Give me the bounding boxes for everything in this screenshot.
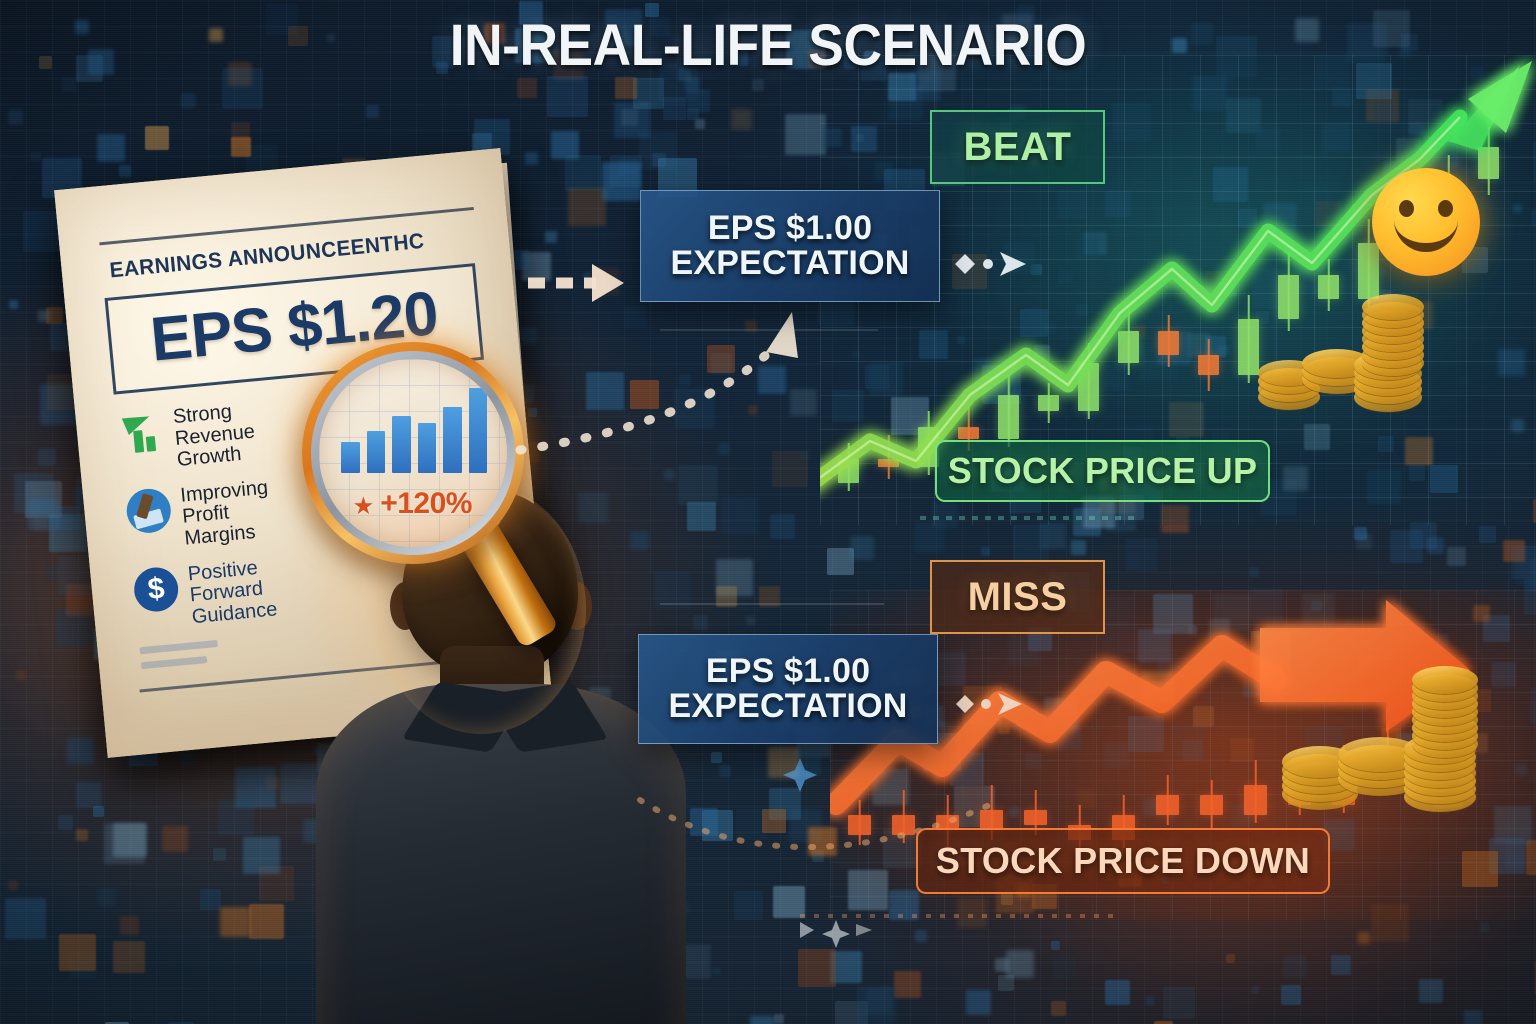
eps-expectation-card-miss[interactable]: EPS $1.00 EXPECTATION [638, 634, 938, 744]
dotted-curve-beat [520, 312, 798, 450]
page-title: IN-REAL-LIFE SCENARIO [61, 12, 1474, 79]
coin-stack-down [1282, 638, 1510, 814]
eps-expectation-line2: EXPECTATION [669, 689, 908, 724]
eps-expectation-card-beat[interactable]: EPS $1.00 EXPECTATION [640, 190, 940, 302]
verdict-badge-beat[interactable]: BEAT [930, 110, 1105, 184]
infographic-canvas: EARNINGS ANNOUNCEENTHC EPS $1.20 Strong … [0, 0, 1536, 1024]
verdict-badge-miss[interactable]: MISS [930, 560, 1105, 634]
sparkle-decorations [783, 758, 872, 948]
smiley-mouth [1394, 216, 1458, 252]
smiley-eye-right [1438, 200, 1453, 217]
smiley-eye-left [1399, 200, 1414, 217]
smiley-face-icon [1372, 168, 1480, 276]
coin-stack-up [1258, 286, 1476, 416]
dashed-arrow-doc-to-eps [528, 264, 624, 302]
outcome-badge-stock-up[interactable]: STOCK PRICE UP [935, 440, 1270, 502]
eps-expectation-line1: EPS $1.00 [669, 654, 908, 689]
outcome-badge-stock-down[interactable]: STOCK PRICE DOWN [916, 828, 1330, 894]
eps-expectation-line1: EPS $1.00 [671, 211, 910, 246]
eps-expectation-line2: EXPECTATION [671, 246, 910, 281]
marker-arrow-beat [955, 252, 1026, 276]
coin [1362, 294, 1424, 320]
coin [1412, 666, 1478, 694]
marker-arrow-miss [956, 693, 1022, 715]
